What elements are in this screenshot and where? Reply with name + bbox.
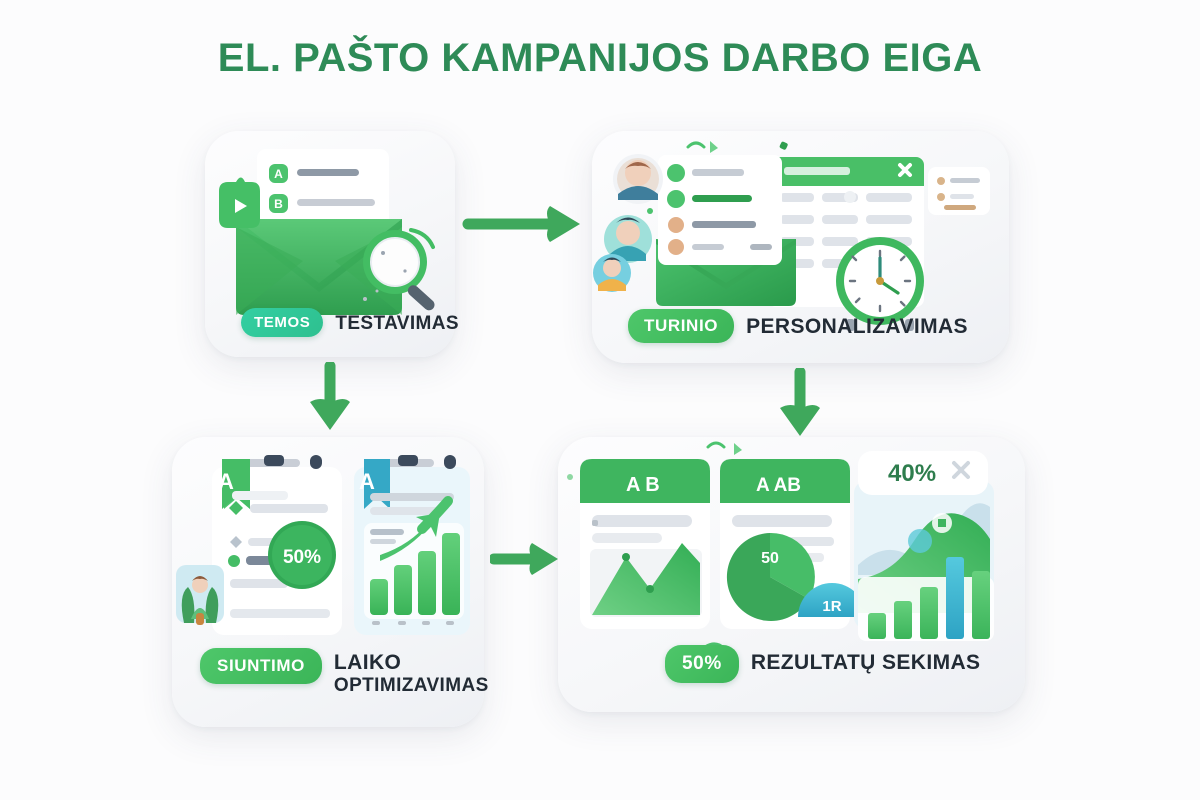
- step-1-caption: TESTAVIMAS: [335, 308, 459, 334]
- svg-text:A: A: [359, 469, 375, 494]
- pie-label-1: 50: [761, 550, 779, 567]
- arrow-2-to-4: [772, 368, 828, 440]
- svg-text:A: A: [274, 167, 283, 181]
- step-3-caption-line1: LAIKO: [334, 651, 401, 674]
- percent-chip-text: 40%: [888, 460, 936, 487]
- step-4-caption: REZULTATŲ SEKIMAS: [751, 645, 981, 675]
- arrow-1-to-2: [462, 196, 592, 252]
- step-3-caption-line2: OPTIMIZAVIMAS: [334, 675, 489, 696]
- svg-text:B: B: [274, 197, 283, 211]
- arrow-1-to-3: [302, 362, 358, 434]
- step-3-label: SIUNTIMO LAIKO OPTIMIZAVIMAS: [200, 648, 489, 696]
- step-1-label: TEMOS TESTAVIMAS: [241, 308, 459, 337]
- person-plant-illustration: [176, 565, 224, 625]
- step-1-badge: TEMOS: [241, 308, 323, 337]
- page-title: EL. PAŠTO KAMPANIJOS DARBO EIGA: [0, 36, 1200, 81]
- svg-text:A: A: [218, 469, 234, 494]
- step-2-badge: TURINIO: [628, 309, 734, 343]
- step-3-badge: SIUNTIMO: [200, 648, 322, 684]
- progress-value-text: 50%: [283, 547, 321, 568]
- step-4-badge: 50%: [665, 645, 739, 683]
- avatar-group: [593, 154, 663, 292]
- step-2-caption: PERSONALIZAVIMAS: [746, 309, 968, 339]
- infographic-canvas: EL. PAŠTO KAMPANIJOS DARBO EIGA A: [0, 0, 1200, 800]
- panel-2-header-text: A AB: [756, 475, 801, 496]
- arrow-3-to-4: [490, 533, 570, 585]
- step-3-caption: LAIKO OPTIMIZAVIMAS: [334, 648, 489, 696]
- pie-label-2: 1R: [822, 598, 841, 615]
- step-2-label: TURINIO PERSONALIZAVIMAS: [628, 309, 968, 343]
- panel-1-header-text: A B: [626, 474, 660, 496]
- step-4-label: 50% REZULTATŲ SEKIMAS: [665, 645, 980, 683]
